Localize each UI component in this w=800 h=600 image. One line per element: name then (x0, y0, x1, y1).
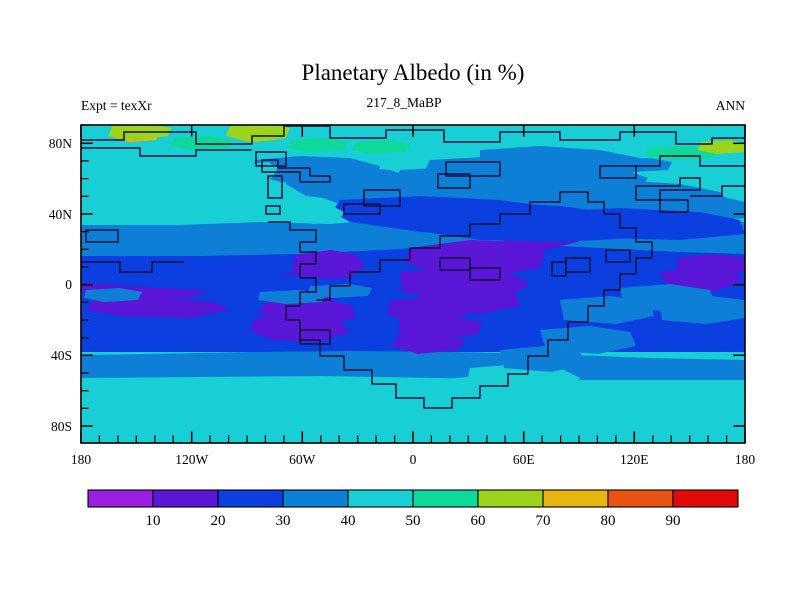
colorbar-band-90-100 (673, 490, 738, 507)
y-tick-label-80s: 80S (51, 419, 72, 434)
colorbar-tick-label-20: 20 (211, 513, 226, 529)
colorbar-band-50-60 (413, 490, 478, 507)
colorbar-band-10-20 (153, 490, 218, 507)
header-experiment: Expt = texXr (81, 98, 152, 113)
albedo-contour-fill (81, 124, 745, 443)
colorbar-tick-label-40: 40 (341, 513, 356, 529)
y-tick-label-40n: 40N (49, 207, 73, 222)
colorbar-tick-label-60: 60 (471, 513, 486, 529)
colorbar-tick-label-30: 30 (276, 513, 291, 529)
colorbar-band-60-70 (478, 490, 543, 507)
colorbar-band-80-90 (608, 490, 673, 507)
colorbar-band-0-10 (88, 490, 153, 507)
colorbar-band-70-80 (543, 490, 608, 507)
y-tick-label-80n: 80N (49, 136, 73, 151)
x-tick-label-0: 0 (410, 452, 417, 467)
x-tick-label-180w: 180 (71, 452, 92, 467)
colorbar-tick-label-90: 90 (666, 513, 681, 529)
map-plot-area (80, 124, 745, 443)
x-tick-label-120e: 120E (620, 452, 649, 467)
planetary-albedo-figure: Planetary Albedo (in %) Expt = texXr 217… (0, 0, 800, 600)
colorbar-band-40-50 (348, 490, 413, 507)
y-tick-label-40s: 40S (51, 348, 72, 363)
colorbar-tick-label-80: 80 (601, 513, 616, 529)
x-tick-label-180e: 180 (735, 452, 756, 467)
colorbar-tick-label-50: 50 (406, 513, 421, 529)
page-title: Planetary Albedo (in %) (302, 60, 525, 85)
x-tick-label-120w: 120W (175, 452, 208, 467)
header-season: ANN (716, 98, 745, 113)
colorbar-tick-label-10: 10 (146, 513, 161, 529)
colorbar-band-30-40 (283, 490, 348, 507)
colorbar-tick-label-70: 70 (536, 513, 551, 529)
x-tick-label-60w: 60W (289, 452, 316, 467)
y-tick-label-0: 0 (65, 277, 72, 292)
header-subtitle: 217_8_MaBP (366, 95, 441, 110)
x-tick-label-60e: 60E (513, 452, 535, 467)
colorbar-band-20-30 (218, 490, 283, 507)
